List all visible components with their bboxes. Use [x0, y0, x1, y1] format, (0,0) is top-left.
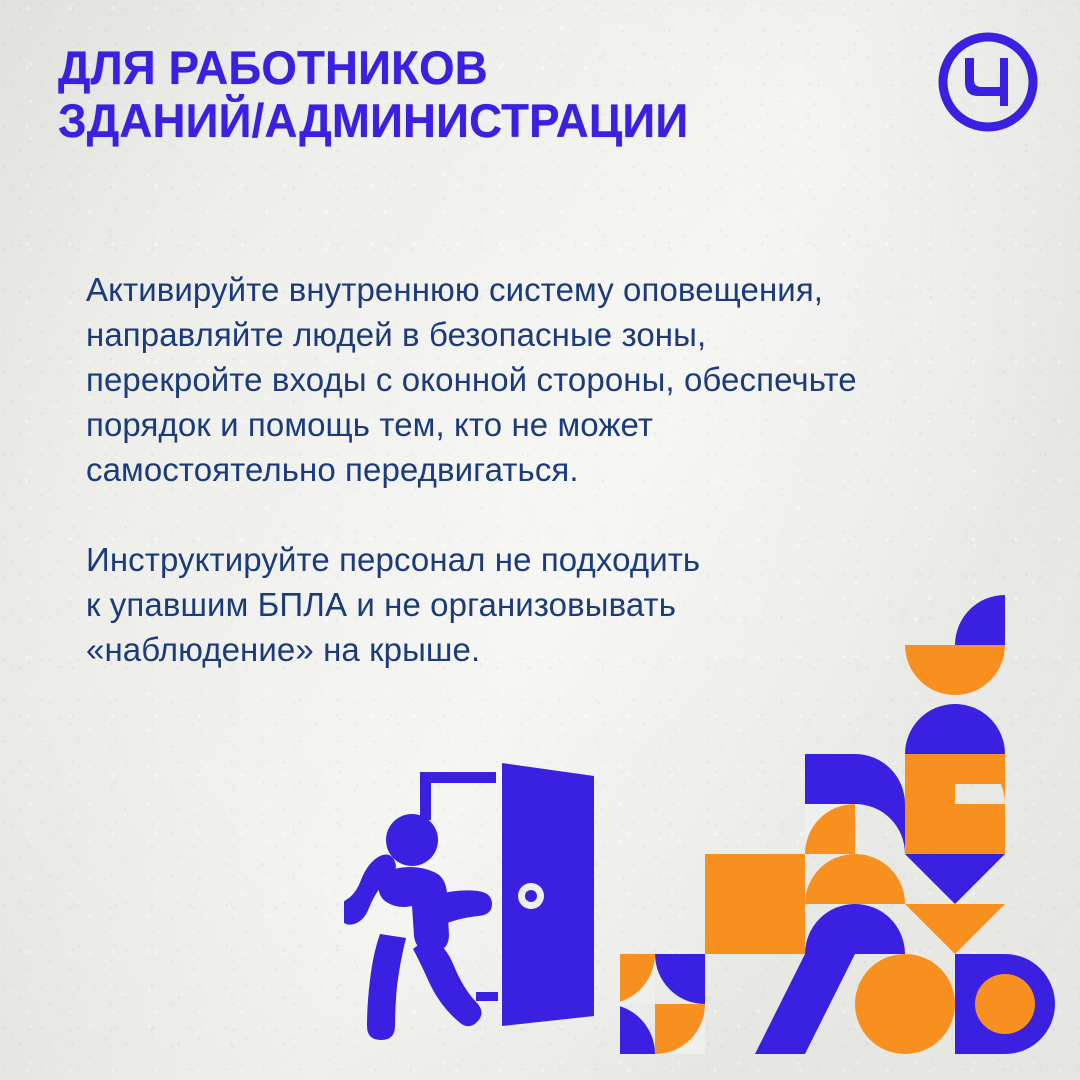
paragraph-1: Активируйте внутреннюю систему оповещени… — [86, 268, 1026, 492]
emergency-exit-running-person-door — [344, 752, 616, 1040]
geometric-bauhaus-pattern — [620, 586, 1080, 1080]
page-title: ДЛЯ РАБОТНИКОВ ЗДАНИЙ/АДМИНИСТРАЦИИ — [58, 42, 1011, 147]
channel-four-logo — [934, 28, 1042, 136]
poster-canvas: ДЛЯ РАБОТНИКОВ ЗДАНИЙ/АДМИНИСТРАЦИИ Акти… — [0, 0, 1080, 1080]
header: ДЛЯ РАБОТНИКОВ ЗДАНИЙ/АДМИНИСТРАЦИИ — [58, 42, 1040, 147]
